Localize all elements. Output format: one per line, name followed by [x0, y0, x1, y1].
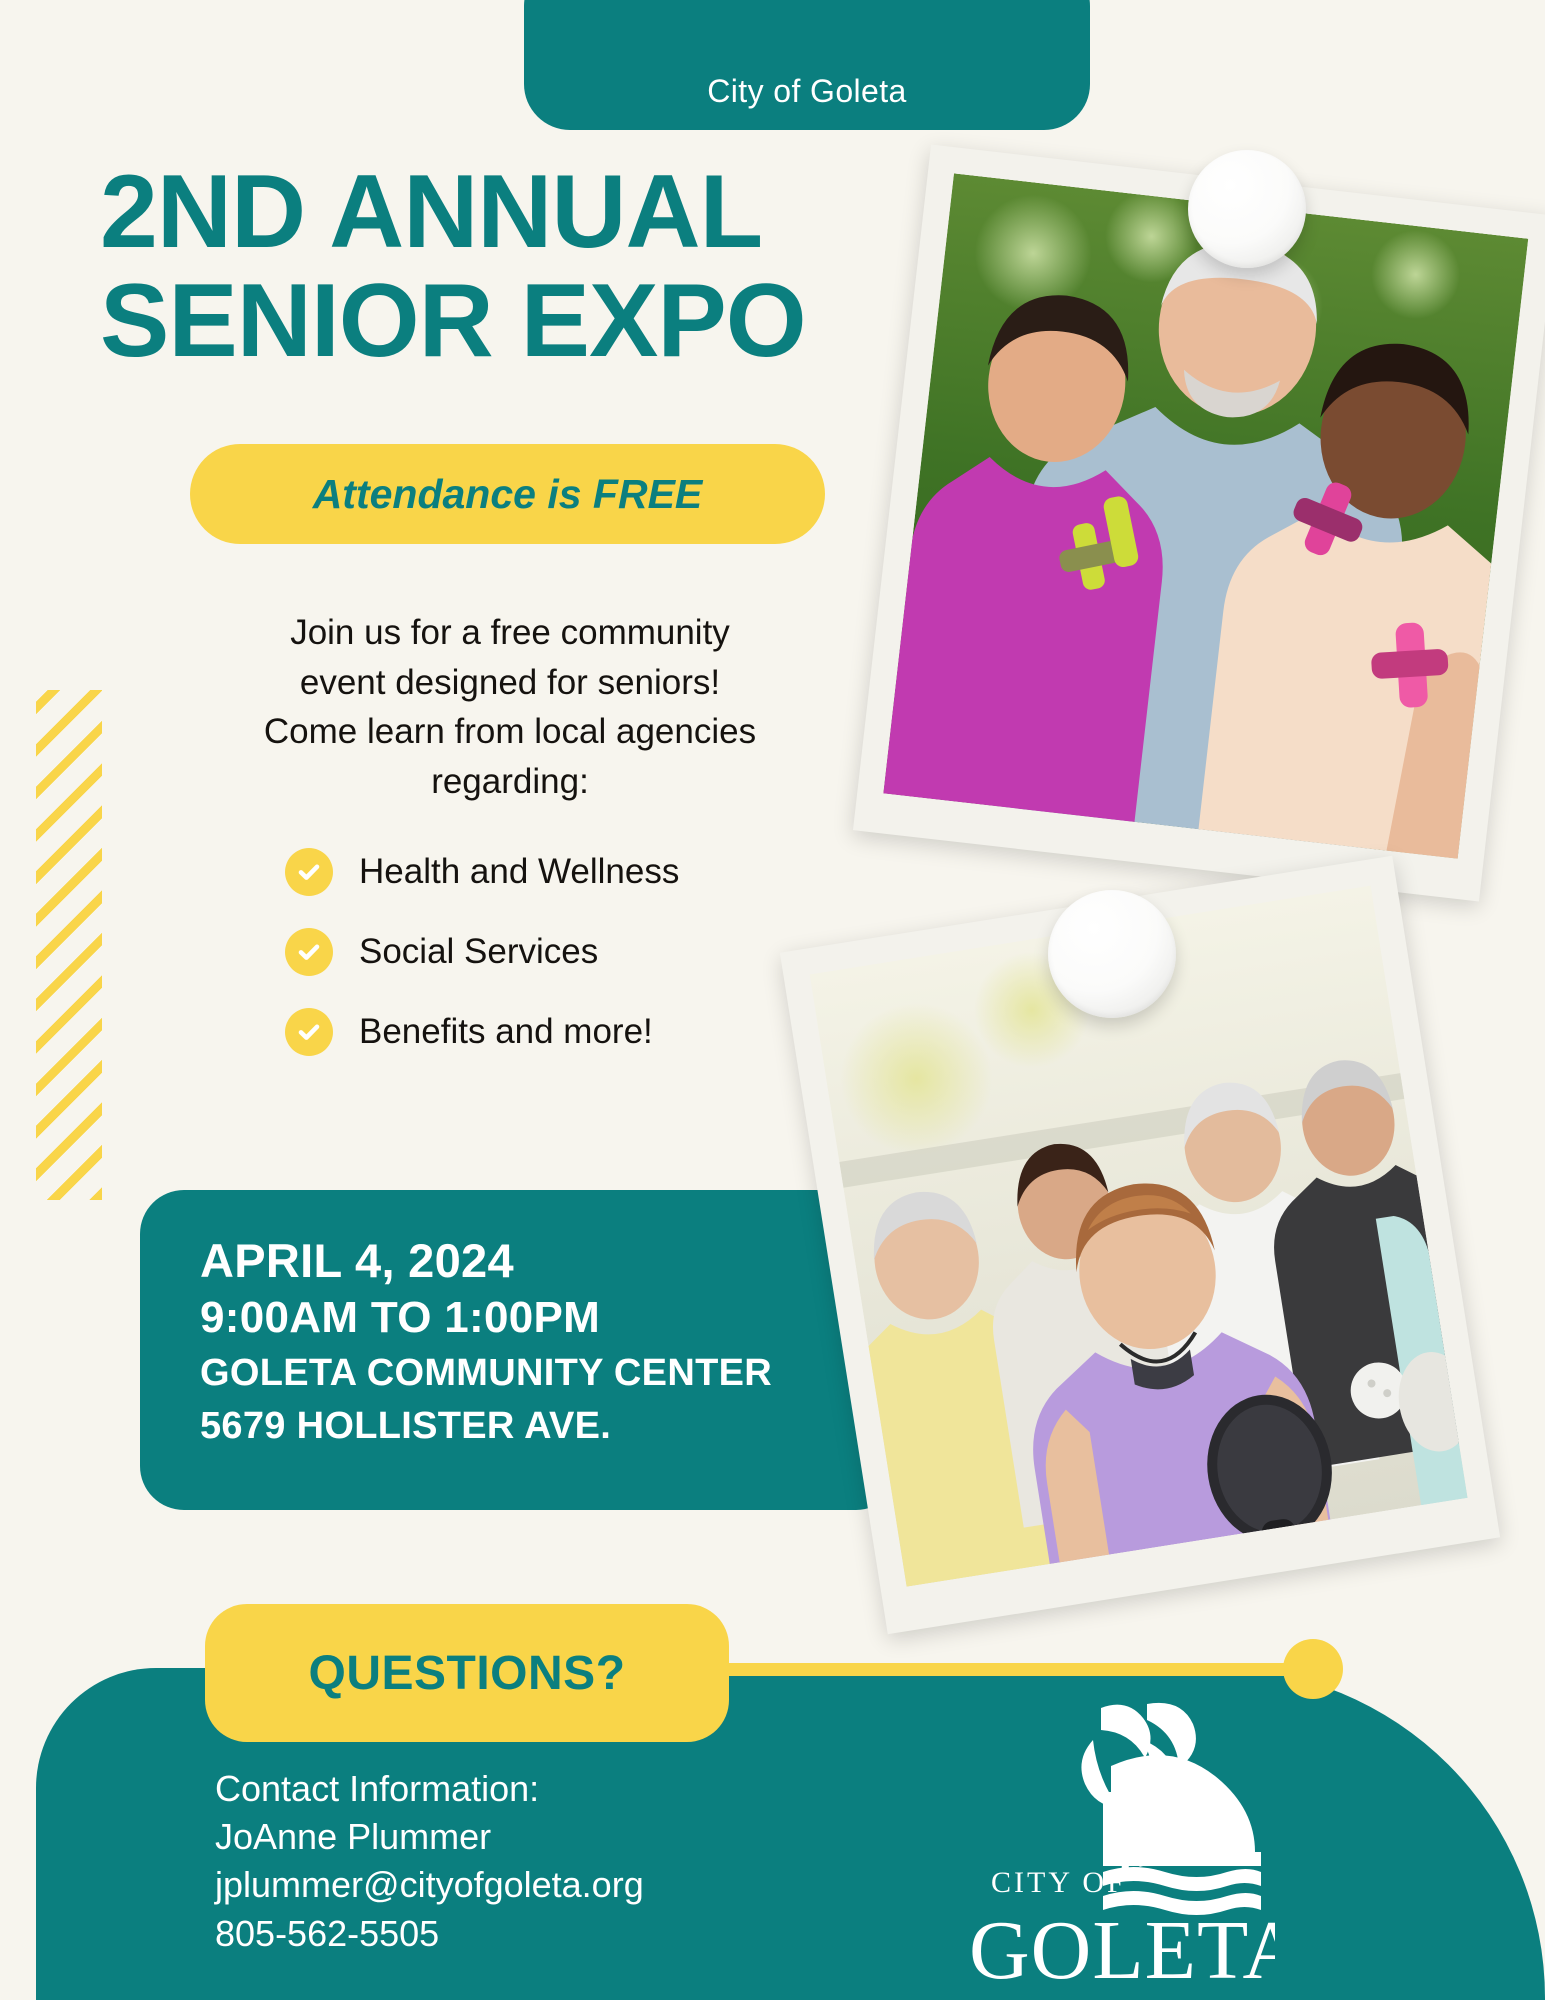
yellow-dot-decoration — [1283, 1639, 1343, 1699]
title-line-1: 2ND ANNUAL — [100, 158, 930, 267]
questions-badge: QUESTIONS? — [205, 1604, 729, 1742]
list-item-label: Health and Wellness — [359, 852, 679, 892]
check-circle-icon — [285, 928, 333, 976]
attendance-free-label: Attendance is FREE — [313, 471, 703, 518]
list-item-label: Social Services — [359, 932, 598, 972]
photo-pin-magnet-bottom — [1048, 890, 1176, 1018]
check-circle-icon — [285, 848, 333, 896]
senior-expo-flyer: City of Goleta 2ND ANNUAL SENIOR EXPO At… — [0, 0, 1545, 2000]
contact-heading: Contact Information: — [215, 1765, 915, 1813]
city-banner-tab: City of Goleta — [524, 0, 1090, 130]
list-item: Health and Wellness — [285, 848, 925, 896]
logo-top-text: CITY OF — [991, 1866, 1127, 1899]
city-banner-label: City of Goleta — [707, 73, 906, 110]
event-address: 5679 HOLLISTER AVE. — [200, 1400, 900, 1452]
title-line-2: SENIOR EXPO — [100, 267, 930, 376]
event-venue: GOLETA COMMUNITY CENTER — [200, 1347, 900, 1399]
check-circle-icon — [285, 1008, 333, 1056]
intro-line-3: Come learn from local agencies — [160, 707, 860, 757]
attendance-free-badge: Attendance is FREE — [190, 444, 825, 544]
event-date: APRIL 4, 2024 — [200, 1232, 900, 1289]
questions-label: QUESTIONS? — [308, 1646, 625, 1701]
intro-line-4: regarding: — [160, 757, 860, 807]
city-of-goleta-logo: CITY OF GOLETA — [935, 1700, 1275, 1990]
diagonal-stripes-decoration — [36, 690, 102, 1200]
photo-pin-magnet-top — [1188, 150, 1306, 268]
contact-information: Contact Information: JoAnne Plummer jplu… — [215, 1765, 915, 1958]
page-title: 2ND ANNUAL SENIOR EXPO — [100, 158, 930, 376]
contact-phone[interactable]: 805-562-5505 — [215, 1910, 915, 1958]
intro-paragraph: Join us for a free community event desig… — [160, 608, 860, 807]
intro-line-2: event designed for seniors! — [160, 658, 860, 708]
list-item-label: Benefits and more! — [359, 1012, 653, 1052]
photo-image-area — [883, 173, 1528, 858]
photo-seniors-dumbbells — [853, 145, 1545, 902]
contact-email[interactable]: jplummer@cityofgoleta.org — [215, 1861, 915, 1909]
yellow-connector-bar — [660, 1663, 1320, 1676]
event-details-box: APRIL 4, 2024 9:00AM TO 1:00PM GOLETA CO… — [140, 1190, 900, 1510]
logo-main-text: GOLETA — [969, 1904, 1275, 1990]
event-time: 9:00AM TO 1:00PM — [200, 1289, 900, 1347]
intro-line-1: Join us for a free community — [160, 608, 860, 658]
contact-name: JoAnne Plummer — [215, 1813, 915, 1861]
